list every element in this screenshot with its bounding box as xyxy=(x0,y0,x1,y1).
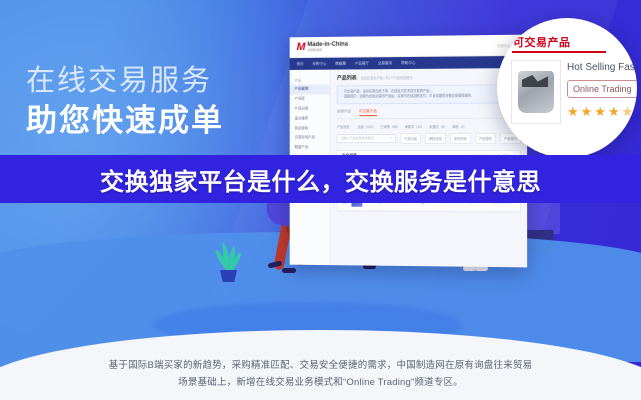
search-row: 请输入产品名称或关键词 ⚲ 产品分组 审核状态 发布时间 产品类别 产品单价 xyxy=(337,133,521,143)
logo-subtext: 中国制造网 xyxy=(307,48,348,51)
sidebar-item-4[interactable]: 商品审核 xyxy=(290,123,330,133)
sidebar-item-0[interactable]: 产品管理 xyxy=(290,85,330,95)
caption-line-2: 场景基础上，新增在线交易业务模式和“Online Trading”频道专区。 xyxy=(0,375,641,392)
headline-line-1: 在线交易服务 xyxy=(26,64,276,99)
callout-product-name: Hot Selling Fashi xyxy=(567,62,635,73)
tradable-product-callout: 可交易产品 Hot Selling Fashi Online Trading ★… xyxy=(497,18,637,158)
content-title: 产品列表 xyxy=(337,74,357,81)
star-icon: ★ xyxy=(594,105,606,118)
sidebar-item-2[interactable]: 产品分组 xyxy=(290,104,330,114)
content-title-sub: 当前已发布产品 / 共1个产品待处理中 xyxy=(361,75,413,80)
mockup-header: M Made-in-China 中国制造网 买家中心 xyxy=(290,35,527,58)
online-trading-badge[interactable]: Online Trading xyxy=(567,80,637,98)
filter-chip-4[interactable]: 草稿（4） xyxy=(452,124,467,129)
nav-item-0[interactable]: 首页 xyxy=(297,61,304,66)
callout-title: 可交易产品 xyxy=(513,34,571,50)
filter-chip-2[interactable]: 审核中（12） xyxy=(405,124,424,129)
dropdown-2[interactable]: 发布时间 xyxy=(450,133,471,143)
sidebar-item-3[interactable]: 重点推荐 xyxy=(290,114,330,124)
note-line-1: · 温馨提示：设置为在线交易的产品后，买家可在线加购支付，平台将提供全程交易保障… xyxy=(342,94,516,100)
content-tabs: 全部产品 可交易产品 xyxy=(337,108,521,119)
nav-item-3[interactable]: 产品展厅 xyxy=(355,61,369,66)
page-root: M Made-in-China 中国制造网 买家中心 首页 采购中心 供应商 产… xyxy=(0,0,641,400)
content-title-row: 产品列表 当前已发布产品 / 共1个产品待处理中 xyxy=(337,73,521,81)
filter-label: 产品状态： xyxy=(337,125,353,130)
caption-block: 基于国际B端买家的新趋势，采购精准匹配、交易安全便捷的需求，中国制造网在原有询盘… xyxy=(0,358,641,391)
title-banner: 交换独家平台是什么，交换服务是什意思 xyxy=(0,155,641,203)
banner-title: 交换独家平台是什么，交换服务是什意思 xyxy=(100,162,541,197)
info-note-box: · 可交易产品：支持买家在线下单、在线支付并完成交易的产品； · 温馨提示：设置… xyxy=(337,84,521,104)
star-icon: ★ xyxy=(608,105,620,118)
star-icon: ★ xyxy=(581,105,593,118)
dropdown-1[interactable]: 审核状态 xyxy=(425,133,446,143)
sidebar-item-1[interactable]: 产品库 xyxy=(290,94,330,104)
nav-item-2[interactable]: 供应商 xyxy=(335,61,346,66)
filter-chip-1[interactable]: 已审核（98） xyxy=(380,124,399,129)
callout-underline xyxy=(512,51,606,53)
sidebar-group-products: 产品 xyxy=(290,75,330,85)
rating-stars: ★ ★ ★ ★ ★ xyxy=(567,105,635,118)
tab-all-products[interactable]: 全部产品 xyxy=(337,109,351,117)
dropdown-3[interactable]: 产品类别 xyxy=(475,133,496,143)
filter-chip-3[interactable]: 未通过（6） xyxy=(429,124,447,129)
star-half-icon: ★ xyxy=(622,105,634,118)
search-input[interactable]: 请输入产品名称或关键词 ⚲ xyxy=(337,134,396,143)
product-image xyxy=(518,71,554,113)
hero-headline: 在线交易服务 助您快速成单 xyxy=(26,64,276,140)
search-placeholder: 请输入产品名称或关键词 xyxy=(341,137,374,141)
dropdown-0[interactable]: 产品分组 xyxy=(400,133,421,143)
tab-tradable-products[interactable]: 可交易产品 xyxy=(359,109,377,117)
filter-row: 产品状态： 全部（120） 已审核（98） 审核中（12） 未通过（6） 草稿（… xyxy=(337,124,521,129)
callout-product-card xyxy=(511,60,561,124)
made-in-china-logo[interactable]: M Made-in-China 中国制造网 xyxy=(297,41,349,52)
browser-mockup: M Made-in-China 中国制造网 买家中心 首页 采购中心 供应商 产… xyxy=(290,35,527,268)
callout-details: Hot Selling Fashi Online Trading ★ ★ ★ ★… xyxy=(567,62,635,118)
headline-line-2: 助您快速成单 xyxy=(26,102,276,140)
search-icon[interactable]: ⚲ xyxy=(390,136,392,140)
star-icon: ★ xyxy=(567,105,579,118)
nav-item-5[interactable]: 帮助中心 xyxy=(401,60,415,65)
logo-mark-icon: M xyxy=(297,42,305,53)
nav-item-4[interactable]: 交易服务 xyxy=(378,61,392,66)
sidebar-item-5[interactable]: 交易在线产品 xyxy=(290,133,330,143)
filter-chip-0[interactable]: 全部（120） xyxy=(358,124,376,129)
sidebar-item-6[interactable]: 橱窗产品 xyxy=(290,143,330,153)
caption-line-1: 基于国际B端买家的新趋势，采购精准匹配、交易安全便捷的需求，中国制造网在原有询盘… xyxy=(0,358,641,375)
nav-item-1[interactable]: 采购中心 xyxy=(312,61,326,66)
